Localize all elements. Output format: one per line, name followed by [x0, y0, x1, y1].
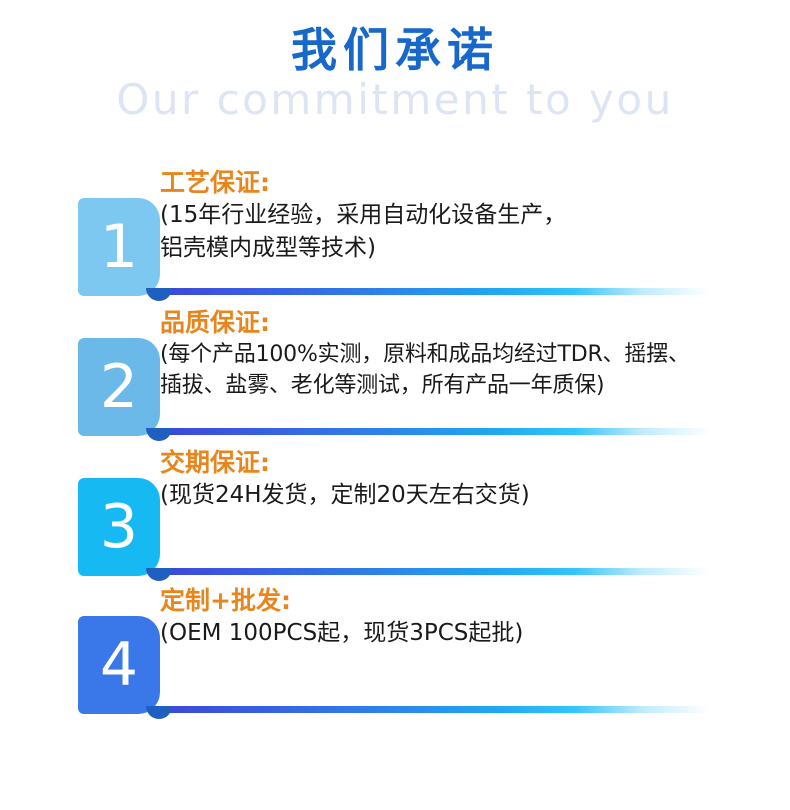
divider-rule-4 [150, 706, 710, 713]
promise-number-badge-1: 1 [78, 198, 160, 296]
divider-dot-3 [146, 568, 172, 581]
page-title-cn: 我们承诺 [0, 0, 790, 76]
promise-body-line-1-1: (15年行业经验，采用自动化设备生产， [160, 199, 775, 232]
promise-heading-4: 定制+批发: [160, 584, 775, 617]
promise-item-1: 1 工艺保证: (15年行业经验，采用自动化设备生产， 铝壳模内成型等技术) [0, 166, 790, 306]
divider-dot-2 [146, 428, 172, 441]
page-title-en: Our commitment to you [0, 76, 790, 122]
promise-number-badge-3: 3 [78, 478, 160, 576]
divider-rule-3 [150, 568, 710, 575]
promise-item-3: 3 交期保证: (现货24H发货，定制20天左右交货) [0, 446, 790, 584]
promise-body-line-4-1: (OEM 100PCS起，现货3PCS起批) [160, 617, 775, 650]
promise-text-4: 定制+批发: (OEM 100PCS起，现货3PCS起批) [160, 584, 775, 650]
promise-heading-2: 品质保证: [160, 306, 775, 339]
promise-number-badge-4: 4 [78, 616, 160, 714]
page-header: 我们承诺 Our commitment to you [0, 0, 790, 122]
divider-dot-1 [146, 288, 172, 301]
divider-rule-1 [150, 288, 710, 295]
promise-text-1: 工艺保证: (15年行业经验，采用自动化设备生产， 铝壳模内成型等技术) [160, 166, 775, 264]
promise-text-3: 交期保证: (现货24H发货，定制20天左右交货) [160, 446, 775, 512]
promise-body-line-1-2: 铝壳模内成型等技术) [160, 232, 775, 265]
promise-body-line-2-2: 插拔、盐雾、老化等测试，所有产品一年质保) [160, 370, 775, 401]
promise-text-2: 品质保证: (每个产品100%实测，原料和成品均经过TDR、摇摆、 插拔、盐雾、… [160, 306, 775, 401]
promise-item-2: 2 品质保证: (每个产品100%实测，原料和成品均经过TDR、摇摆、 插拔、盐… [0, 306, 790, 446]
promise-heading-1: 工艺保证: [160, 166, 775, 199]
promise-body-line-2-1: (每个产品100%实测，原料和成品均经过TDR、摇摆、 [160, 339, 775, 370]
promise-heading-3: 交期保证: [160, 446, 775, 479]
promise-list: 1 工艺保证: (15年行业经验，采用自动化设备生产， 铝壳模内成型等技术) 2… [0, 166, 790, 722]
promise-body-line-3-1: (现货24H发货，定制20天左右交货) [160, 479, 775, 512]
promise-number-badge-2: 2 [78, 338, 160, 436]
promise-item-4: 4 定制+批发: (OEM 100PCS起，现货3PCS起批) [0, 584, 790, 722]
promise-page: 我们承诺 Our commitment to you 1 工艺保证: (15年行… [0, 0, 790, 810]
divider-dot-4 [146, 706, 172, 719]
divider-rule-2 [150, 428, 710, 435]
